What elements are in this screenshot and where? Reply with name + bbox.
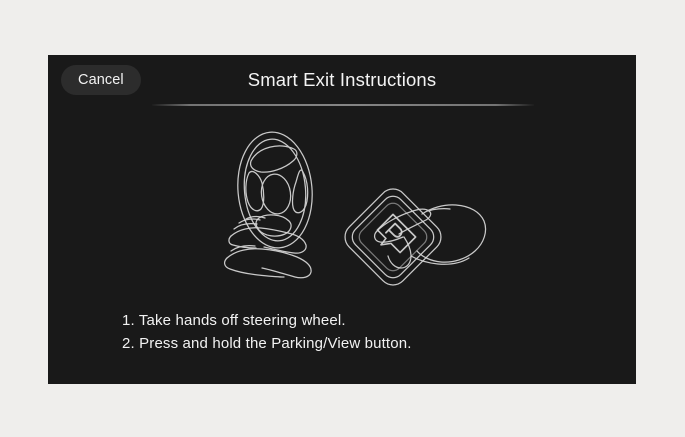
panel-header: Cancel Smart Exit Instructions (48, 55, 636, 103)
instruction-list: 1. Take hands off steering wheel. 2. Pre… (122, 309, 592, 355)
instructions-illustration (218, 117, 508, 297)
step-text: Take hands off steering wheel. (139, 312, 346, 329)
header-divider (152, 104, 534, 106)
instruction-step-2: 2. Press and hold the Parking/View butto… (122, 332, 592, 355)
step-text: Press and hold the Parking/View button. (139, 335, 411, 352)
parking-view-button-icon (339, 183, 446, 290)
page-title: Smart Exit Instructions (48, 69, 636, 91)
steering-wheel-icon (233, 129, 317, 251)
instruction-step-1: 1. Take hands off steering wheel. (122, 309, 592, 332)
screen-root: Cancel Smart Exit Instructions (0, 0, 685, 437)
step-number: 2. (122, 335, 135, 352)
smart-exit-instructions-panel: Cancel Smart Exit Instructions (48, 55, 636, 384)
step-number: 1. (122, 312, 135, 329)
pressing-hand-icon (375, 205, 486, 268)
